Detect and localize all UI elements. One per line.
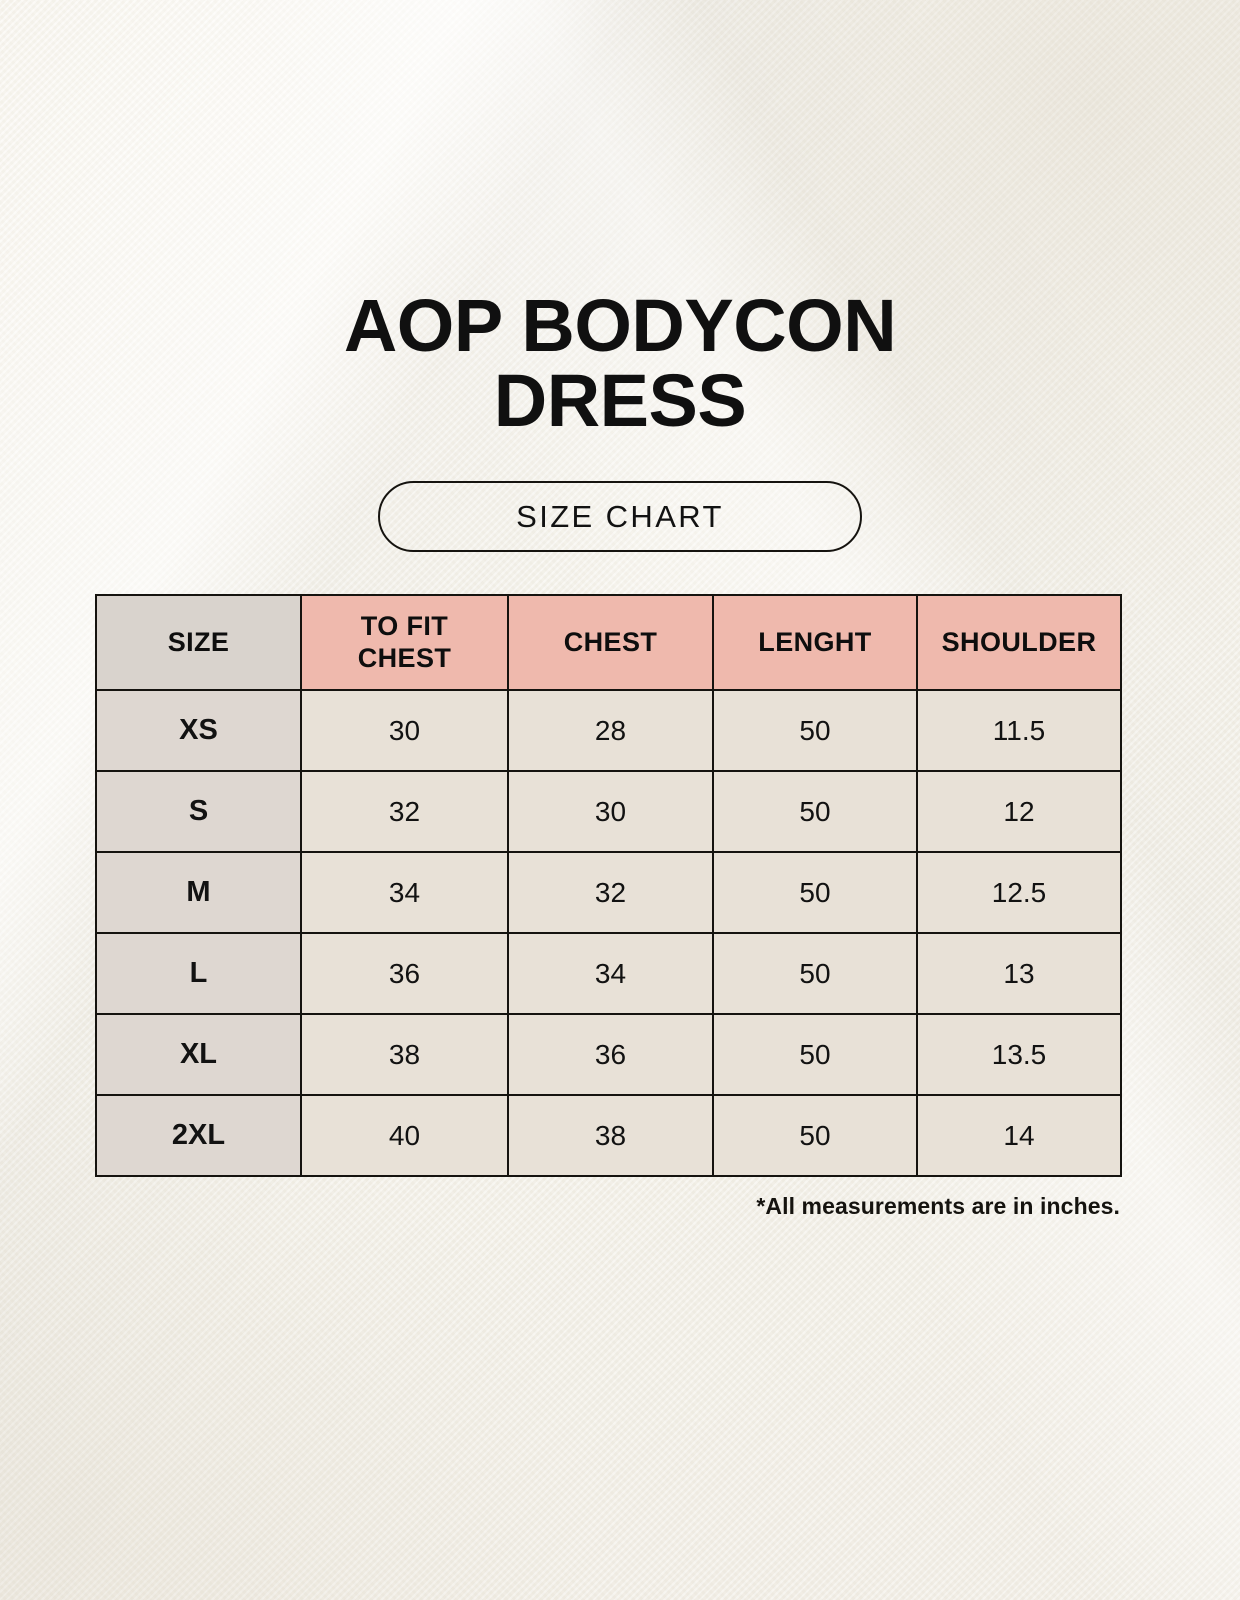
cell-lenght: 50: [713, 1014, 917, 1095]
page-title-line-1: AOP BODYCON: [0, 288, 1240, 363]
badge-container: SIZE CHART: [0, 481, 1240, 552]
table-header-row: SIZE TO FIT CHEST CHEST LENGHT SHOULDER: [96, 595, 1121, 690]
cell-size: 2XL: [96, 1095, 301, 1176]
column-header-lenght: LENGHT: [713, 595, 917, 690]
table-row: S 32 30 50 12: [96, 771, 1121, 852]
cell-chest: 36: [508, 1014, 713, 1095]
size-table-body: XS 30 28 50 11.5 S 32 30 50 12 M 34 32: [96, 690, 1121, 1176]
cell-to-fit-chest: 40: [301, 1095, 508, 1176]
column-header-lenght-label: LENGHT: [758, 627, 871, 657]
cell-to-fit-chest: 30: [301, 690, 508, 771]
cell-to-fit-chest: 38: [301, 1014, 508, 1095]
cell-shoulder: 12: [917, 771, 1121, 852]
page-title: AOP BODYCON DRESS: [0, 288, 1240, 439]
cell-to-fit-chest: 34: [301, 852, 508, 933]
column-header-chest-label: CHEST: [564, 627, 658, 657]
column-header-size: SIZE: [96, 595, 301, 690]
column-header-shoulder-label: SHOULDER: [942, 627, 1097, 657]
measurements-footnote: *All measurements are in inches.: [95, 1193, 1120, 1220]
cell-shoulder: 11.5: [917, 690, 1121, 771]
size-table-head: SIZE TO FIT CHEST CHEST LENGHT SHOULDER: [96, 595, 1121, 690]
table-row: M 34 32 50 12.5: [96, 852, 1121, 933]
size-chart-page: AOP BODYCON DRESS SIZE CHART SIZE TO FIT: [0, 0, 1240, 1600]
column-header-to-fit-chest: TO FIT CHEST: [301, 595, 508, 690]
page-title-line-2: DRESS: [0, 363, 1240, 438]
cell-shoulder: 14: [917, 1095, 1121, 1176]
cell-size: XL: [96, 1014, 301, 1095]
cell-size: M: [96, 852, 301, 933]
cell-lenght: 50: [713, 852, 917, 933]
column-header-chest: CHEST: [508, 595, 713, 690]
size-table-container: SIZE TO FIT CHEST CHEST LENGHT SHOULDER: [95, 594, 1120, 1177]
column-header-size-label: SIZE: [168, 627, 230, 657]
cell-lenght: 50: [713, 933, 917, 1014]
size-chart-badge: SIZE CHART: [378, 481, 862, 552]
column-header-to-fit-chest-line-2: CHEST: [358, 643, 452, 673]
cell-lenght: 50: [713, 1095, 917, 1176]
table-row: XL 38 36 50 13.5: [96, 1014, 1121, 1095]
column-header-to-fit-chest-line-1: TO FIT: [361, 611, 448, 641]
cell-chest: 38: [508, 1095, 713, 1176]
table-row: 2XL 40 38 50 14: [96, 1095, 1121, 1176]
cell-to-fit-chest: 36: [301, 933, 508, 1014]
cell-chest: 28: [508, 690, 713, 771]
cell-chest: 32: [508, 852, 713, 933]
size-table: SIZE TO FIT CHEST CHEST LENGHT SHOULDER: [95, 594, 1122, 1177]
table-row: XS 30 28 50 11.5: [96, 690, 1121, 771]
cell-to-fit-chest: 32: [301, 771, 508, 852]
cell-lenght: 50: [713, 771, 917, 852]
cell-lenght: 50: [713, 690, 917, 771]
cell-size: XS: [96, 690, 301, 771]
cell-shoulder: 13: [917, 933, 1121, 1014]
cell-shoulder: 12.5: [917, 852, 1121, 933]
column-header-shoulder: SHOULDER: [917, 595, 1121, 690]
cell-chest: 30: [508, 771, 713, 852]
table-row: L 36 34 50 13: [96, 933, 1121, 1014]
cell-size: L: [96, 933, 301, 1014]
cell-chest: 34: [508, 933, 713, 1014]
cell-size: S: [96, 771, 301, 852]
cell-shoulder: 13.5: [917, 1014, 1121, 1095]
